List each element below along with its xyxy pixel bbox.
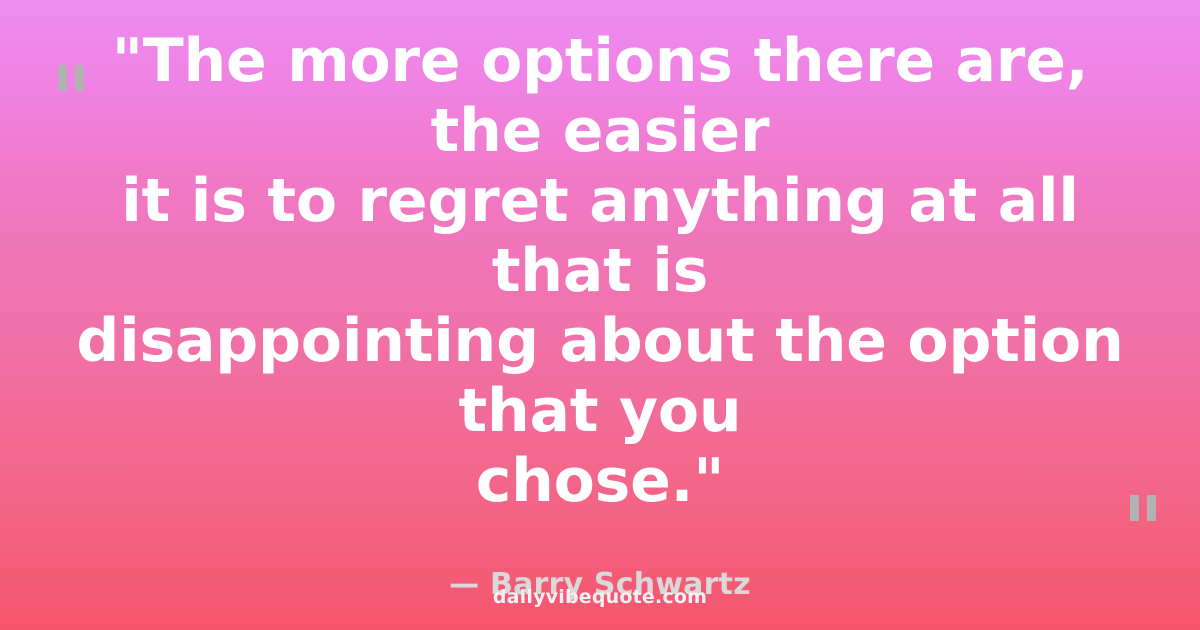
quote-line: disappointing about the option that you [46,306,1154,446]
quote-text: "The more options there are, the easier … [46,26,1154,516]
quote-card: "The more options there are, the easier … [0,0,1200,630]
quote-line: "The more options there are, the easier [46,26,1154,166]
quote-line: it is to regret anything at all that is [46,166,1154,306]
site-watermark: dailyvibequote.com [0,586,1200,608]
quote-line: chose." [46,446,1154,516]
